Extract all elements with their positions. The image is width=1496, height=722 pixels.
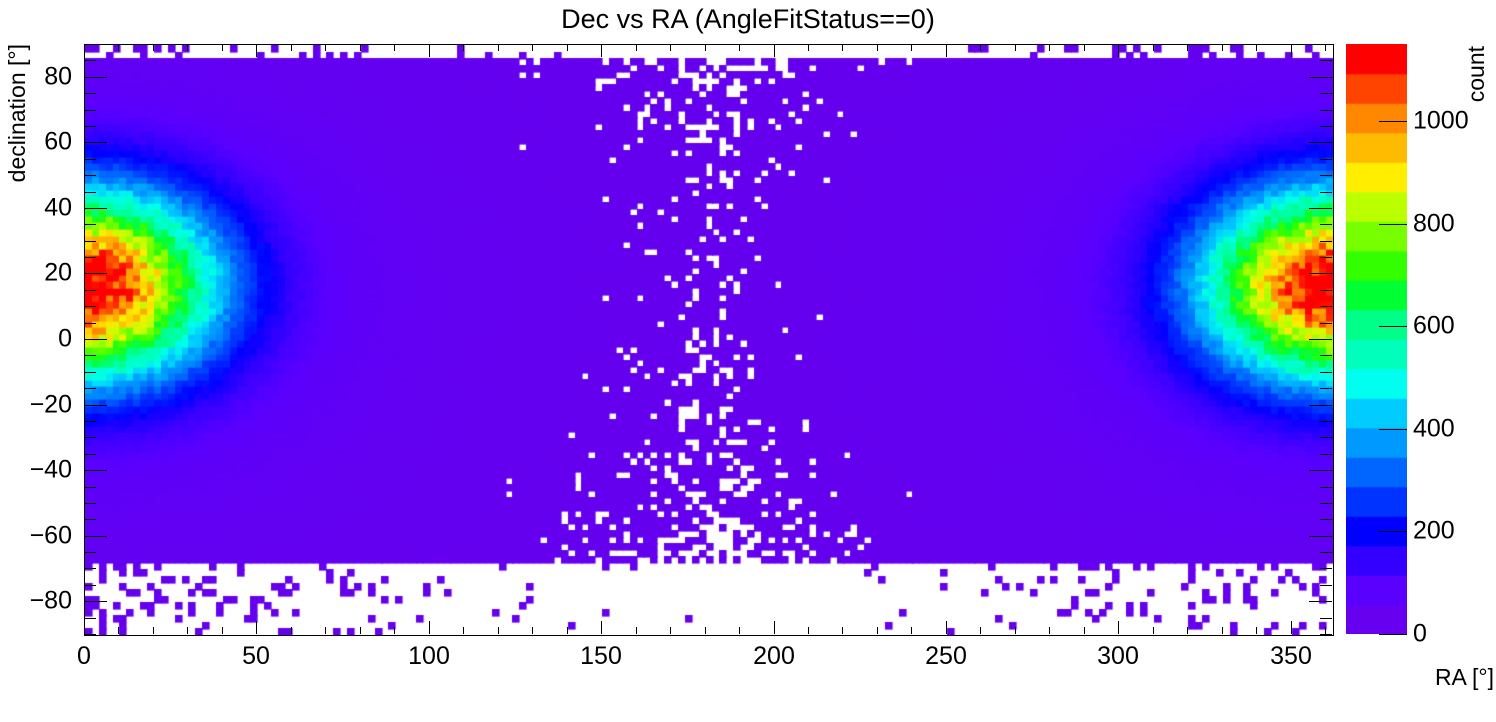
x-minor-tick: [1222, 627, 1223, 634]
y-major-tick-right: [1309, 208, 1332, 209]
x-minor-tick-top: [222, 44, 223, 51]
x-minor-tick: [1187, 627, 1188, 634]
y-minor-tick: [84, 290, 96, 291]
colorbar-canvas: [1346, 44, 1407, 634]
y-minor-tick-right: [1320, 519, 1332, 520]
x-major-tick: [1291, 621, 1292, 634]
x-minor-tick: [187, 627, 188, 634]
x-major-tick: [429, 621, 430, 634]
y-major-tick-right: [1309, 77, 1332, 78]
y-major-tick: [84, 536, 107, 537]
x-minor-tick: [705, 627, 706, 634]
x-minor-tick-top: [1325, 44, 1326, 51]
y-minor-tick-right: [1320, 568, 1332, 569]
y-major-tick-right: [1309, 405, 1332, 406]
x-minor-tick-top: [1084, 44, 1085, 51]
y-axis-title: declination [°]: [4, 44, 31, 182]
y-minor-tick-right: [1320, 372, 1332, 373]
y-major-tick: [84, 208, 107, 209]
x-minor-tick: [636, 627, 637, 634]
colorbar-tick-label: 800: [1413, 210, 1455, 239]
y-minor-tick-right: [1320, 437, 1332, 438]
y-minor-tick-right: [1320, 192, 1332, 193]
y-minor-tick-right: [1320, 290, 1332, 291]
plot-frame: [84, 44, 1334, 636]
x-minor-tick-top: [670, 44, 671, 51]
x-minor-tick: [842, 627, 843, 634]
y-minor-tick-right: [1320, 503, 1332, 504]
y-minor-tick: [84, 93, 96, 94]
y-minor-tick-right: [1320, 126, 1332, 127]
x-major-tick-top: [774, 44, 775, 57]
y-tick-label: −80: [8, 587, 72, 616]
x-minor-tick: [670, 627, 671, 634]
y-minor-tick-right: [1320, 487, 1332, 488]
y-tick-label: 40: [8, 194, 72, 223]
y-major-tick-right: [1309, 339, 1332, 340]
x-minor-tick-top: [567, 44, 568, 51]
y-minor-tick: [84, 126, 96, 127]
x-minor-tick-top: [842, 44, 843, 51]
x-minor-tick: [1325, 627, 1326, 634]
y-minor-tick: [84, 487, 96, 488]
y-minor-tick: [84, 437, 96, 438]
x-major-tick-top: [1291, 44, 1292, 57]
colorbar-tick-label: 400: [1413, 415, 1455, 444]
x-minor-tick-top: [808, 44, 809, 51]
x-minor-tick-top: [1222, 44, 1223, 51]
y-minor-tick: [84, 110, 96, 111]
x-minor-tick: [980, 627, 981, 634]
x-minor-tick: [1049, 627, 1050, 634]
x-minor-tick-top: [1187, 44, 1188, 51]
x-minor-tick: [325, 627, 326, 634]
y-minor-tick: [84, 192, 96, 193]
y-minor-tick-right: [1320, 454, 1332, 455]
x-major-tick: [774, 621, 775, 634]
y-minor-tick: [84, 552, 96, 553]
y-tick-label: 0: [8, 325, 72, 354]
x-minor-tick-top: [394, 44, 395, 51]
y-minor-tick-right: [1320, 323, 1332, 324]
x-minor-tick-top: [532, 44, 533, 51]
x-minor-tick: [394, 627, 395, 634]
x-minor-tick: [1256, 627, 1257, 634]
y-minor-tick-right: [1320, 355, 1332, 356]
y-minor-tick-right: [1320, 93, 1332, 94]
x-minor-tick: [1015, 627, 1016, 634]
y-major-tick: [84, 470, 107, 471]
y-minor-tick: [84, 355, 96, 356]
colorbar-tick: [1379, 326, 1407, 327]
x-minor-tick-top: [877, 44, 878, 51]
y-minor-tick: [84, 224, 96, 225]
colorbar-title: count: [1463, 46, 1490, 102]
y-minor-tick-right: [1320, 618, 1332, 619]
x-minor-tick: [153, 627, 154, 634]
y-major-tick: [84, 77, 107, 78]
y-minor-tick: [84, 159, 96, 160]
y-minor-tick-right: [1320, 60, 1332, 61]
histogram-canvas: [85, 45, 1333, 635]
x-tick-label: 350: [1270, 642, 1312, 671]
x-minor-tick: [463, 627, 464, 634]
y-minor-tick: [84, 618, 96, 619]
x-minor-tick-top: [705, 44, 706, 51]
y-major-tick-right: [1309, 470, 1332, 471]
colorbar-tick-label: 0: [1413, 620, 1427, 649]
y-minor-tick: [84, 568, 96, 569]
colorbar-tick-label: 200: [1413, 517, 1455, 546]
x-minor-tick-top: [911, 44, 912, 51]
x-minor-tick: [118, 627, 119, 634]
x-minor-tick: [498, 627, 499, 634]
y-minor-tick-right: [1320, 175, 1332, 176]
colorbar-tick-label: 600: [1413, 312, 1455, 341]
y-minor-tick: [84, 454, 96, 455]
y-minor-tick: [84, 503, 96, 504]
y-minor-tick: [84, 421, 96, 422]
y-major-tick-right: [1309, 536, 1332, 537]
x-minor-tick: [360, 627, 361, 634]
y-minor-tick-right: [1320, 241, 1332, 242]
x-major-tick: [601, 621, 602, 634]
x-minor-tick-top: [291, 44, 292, 51]
plot-root: Dec vs RA (AngleFitStatus==0) 0501001502…: [0, 0, 1496, 722]
y-minor-tick: [84, 388, 96, 389]
x-minor-tick-top: [1256, 44, 1257, 51]
y-minor-tick-right: [1320, 552, 1332, 553]
y-minor-tick: [84, 634, 96, 635]
y-minor-tick-right: [1320, 257, 1332, 258]
y-minor-tick-right: [1320, 44, 1332, 45]
y-major-tick: [84, 142, 107, 143]
y-minor-tick: [84, 585, 96, 586]
y-minor-tick: [84, 241, 96, 242]
colorbar-tick: [1379, 224, 1407, 225]
y-minor-tick-right: [1320, 388, 1332, 389]
y-minor-tick-right: [1320, 306, 1332, 307]
x-minor-tick-top: [1153, 44, 1154, 51]
x-tick-label: 0: [77, 642, 91, 671]
y-minor-tick: [84, 60, 96, 61]
x-major-tick: [1118, 621, 1119, 634]
y-minor-tick: [84, 306, 96, 307]
x-minor-tick-top: [118, 44, 119, 51]
x-minor-tick-top: [463, 44, 464, 51]
x-major-tick-top: [429, 44, 430, 57]
y-minor-tick: [84, 323, 96, 324]
x-tick-label: 300: [1097, 642, 1139, 671]
y-tick-label: 20: [8, 259, 72, 288]
y-major-tick-right: [1309, 601, 1332, 602]
x-minor-tick: [911, 627, 912, 634]
x-minor-tick-top: [1049, 44, 1050, 51]
y-major-tick: [84, 405, 107, 406]
y-minor-tick-right: [1320, 634, 1332, 635]
colorbar: [1346, 44, 1407, 634]
x-minor-tick: [1153, 627, 1154, 634]
y-major-tick: [84, 339, 107, 340]
x-minor-tick-top: [980, 44, 981, 51]
y-minor-tick-right: [1320, 585, 1332, 586]
x-minor-tick-top: [360, 44, 361, 51]
x-minor-tick: [1084, 627, 1085, 634]
y-minor-tick: [84, 44, 96, 45]
y-minor-tick-right: [1320, 421, 1332, 422]
x-minor-tick-top: [739, 44, 740, 51]
y-minor-tick: [84, 372, 96, 373]
x-major-tick-top: [601, 44, 602, 57]
x-minor-tick-top: [153, 44, 154, 51]
x-minor-tick: [567, 627, 568, 634]
y-tick-label: −20: [8, 391, 72, 420]
x-tick-label: 100: [408, 642, 450, 671]
x-minor-tick-top: [636, 44, 637, 51]
colorbar-tick: [1379, 634, 1407, 635]
x-tick-label: 200: [753, 642, 795, 671]
y-minor-tick: [84, 175, 96, 176]
y-minor-tick: [84, 257, 96, 258]
x-major-tick: [84, 621, 85, 634]
x-minor-tick: [808, 627, 809, 634]
colorbar-tick: [1379, 121, 1407, 122]
y-major-tick-right: [1309, 142, 1332, 143]
x-major-tick-top: [946, 44, 947, 57]
x-tick-label: 150: [580, 642, 622, 671]
x-minor-tick: [739, 627, 740, 634]
x-minor-tick-top: [1015, 44, 1016, 51]
x-axis-title: RA [°]: [1435, 664, 1494, 691]
x-major-tick-top: [1118, 44, 1119, 57]
x-minor-tick-top: [325, 44, 326, 51]
colorbar-tick-label: 1000: [1413, 107, 1469, 136]
x-minor-tick-top: [498, 44, 499, 51]
y-major-tick: [84, 273, 107, 274]
y-tick-label: −60: [8, 522, 72, 551]
colorbar-tick: [1379, 429, 1407, 430]
y-minor-tick-right: [1320, 224, 1332, 225]
x-minor-tick: [532, 627, 533, 634]
page-title: Dec vs RA (AngleFitStatus==0): [0, 4, 1496, 35]
y-minor-tick-right: [1320, 159, 1332, 160]
y-minor-tick: [84, 519, 96, 520]
y-major-tick-right: [1309, 273, 1332, 274]
y-minor-tick-right: [1320, 110, 1332, 111]
y-major-tick: [84, 601, 107, 602]
x-minor-tick: [222, 627, 223, 634]
x-tick-label: 250: [925, 642, 967, 671]
x-minor-tick: [291, 627, 292, 634]
x-tick-label: 50: [242, 642, 270, 671]
y-tick-label: −40: [8, 456, 72, 485]
x-major-tick: [256, 621, 257, 634]
x-major-tick-top: [84, 44, 85, 57]
colorbar-tick: [1379, 531, 1407, 532]
x-minor-tick-top: [187, 44, 188, 51]
x-major-tick: [946, 621, 947, 634]
x-minor-tick: [877, 627, 878, 634]
x-major-tick-top: [256, 44, 257, 57]
